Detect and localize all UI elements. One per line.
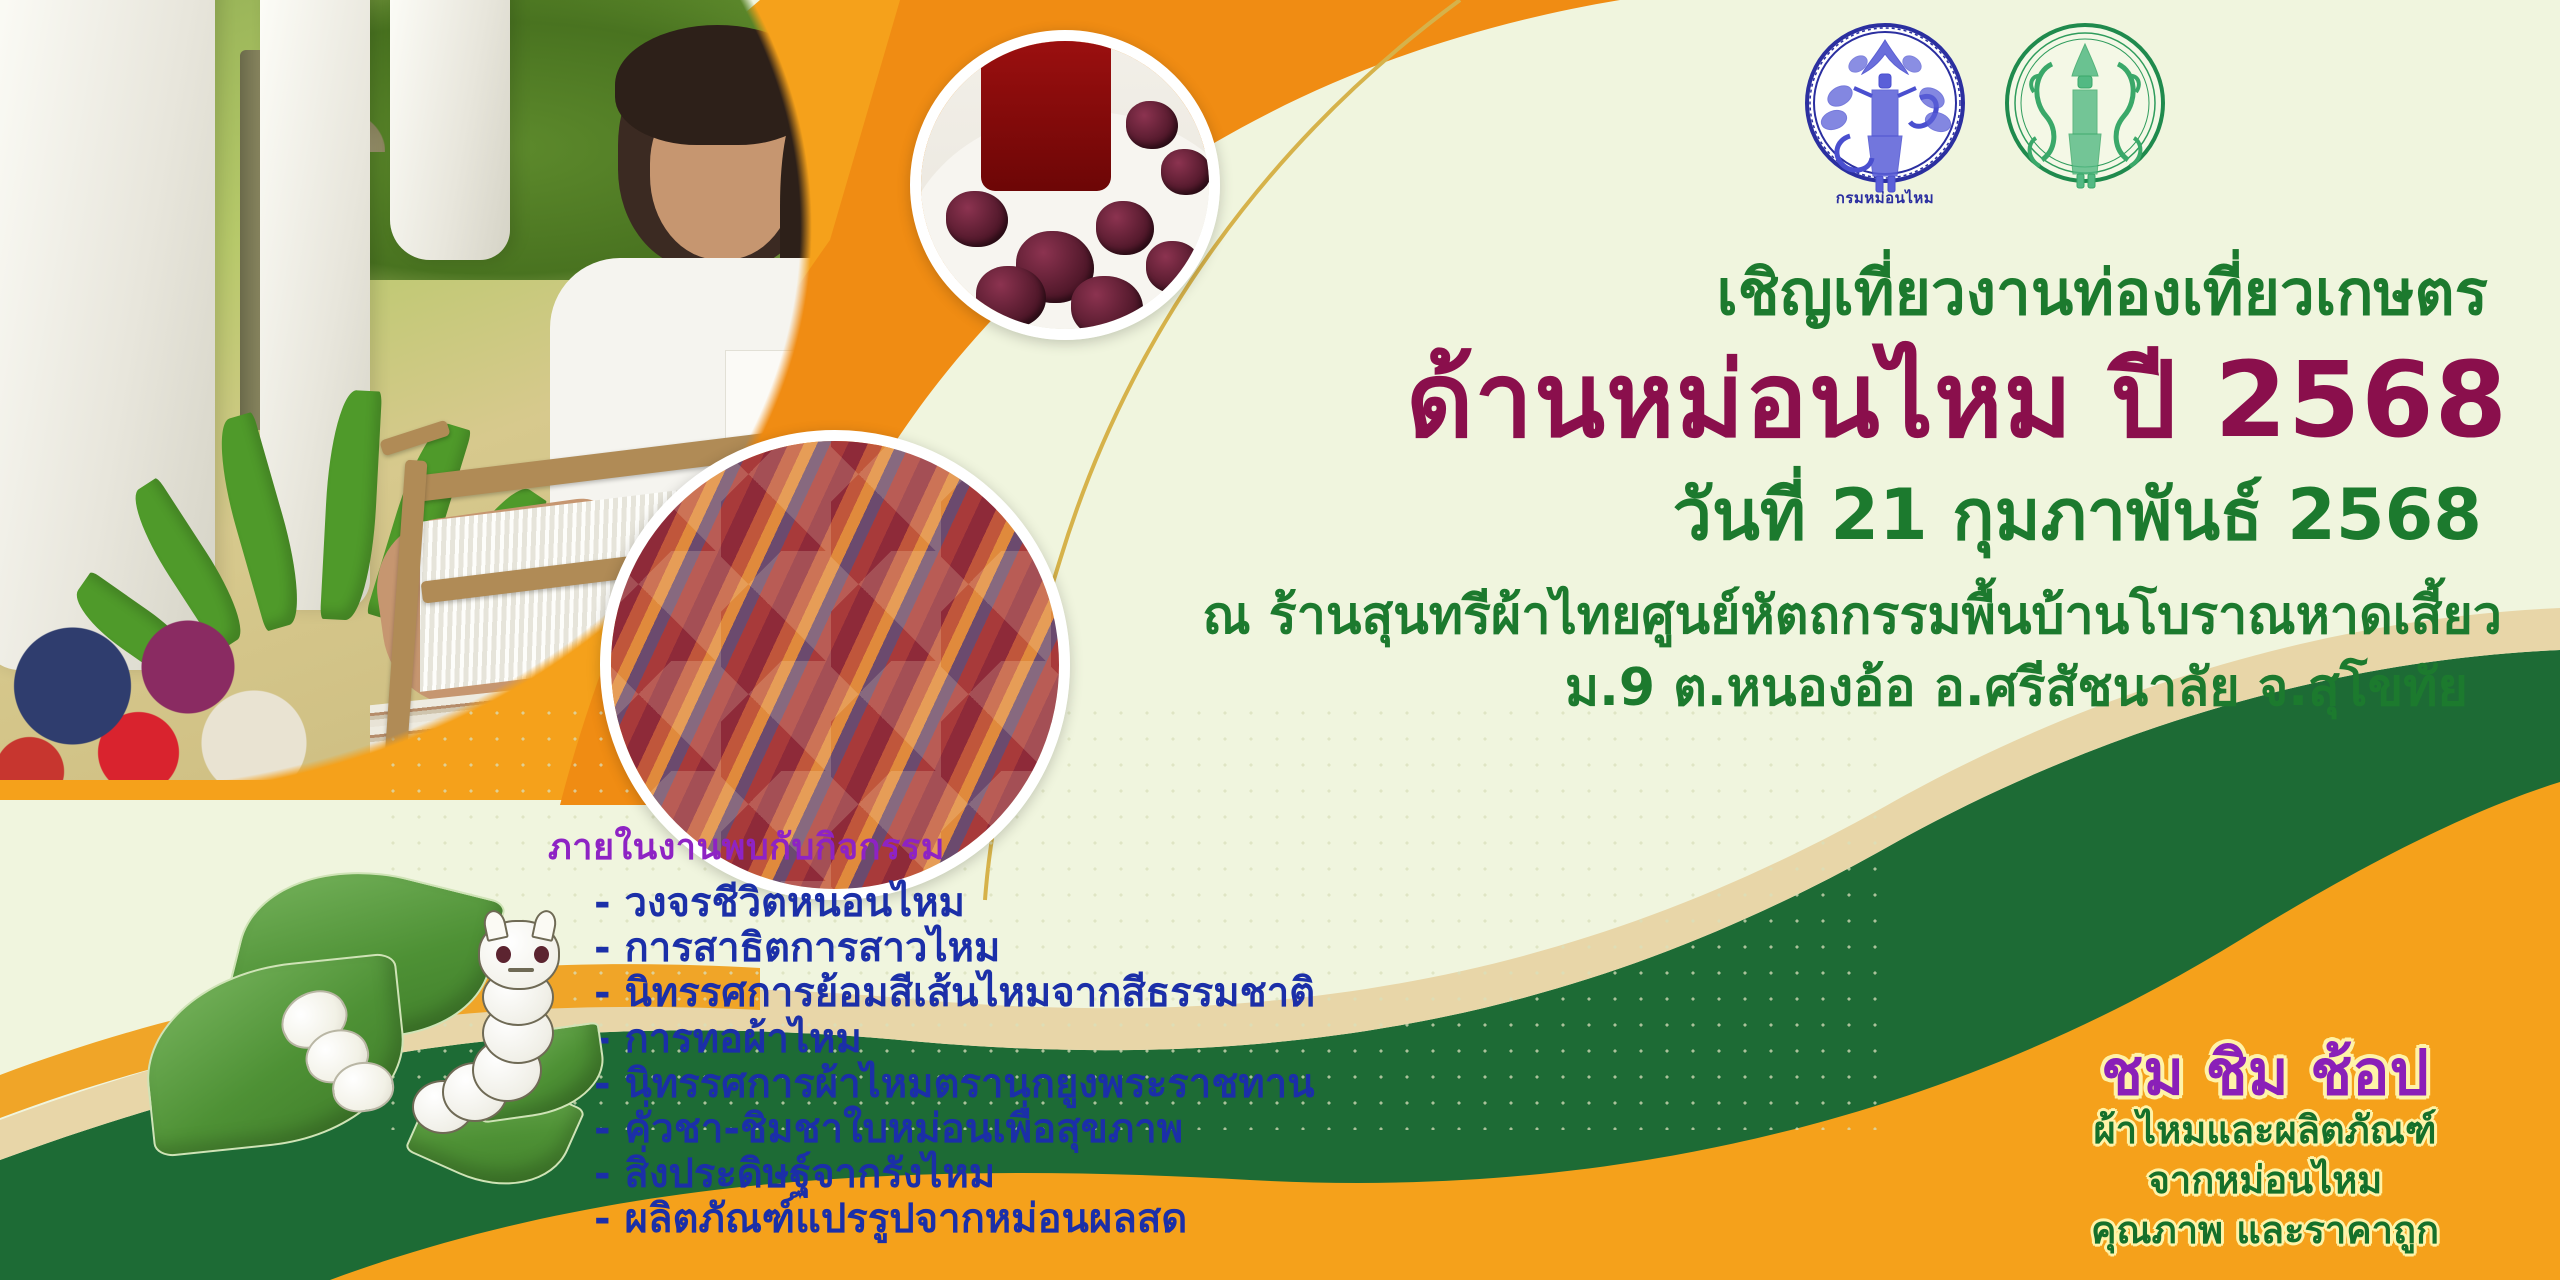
mulberry-leaf-front — [136, 952, 413, 1158]
list-item: - สิ่งประดิษฐ์จากรังไหม — [548, 1152, 1315, 1197]
department-of-sericulture-emblem: กรมหม่อนไหม — [1800, 18, 1970, 208]
list-item: - การสาธิตการสาวไหม — [548, 926, 1315, 971]
list-item: - คั่วชา-ชิมชาใบหม่อนเพื่อสุขภาพ — [548, 1107, 1315, 1152]
silkworm-eye-left — [496, 946, 511, 963]
event-date: วันที่ 21 กุมภาพันธ์ 2568 — [1673, 480, 2482, 550]
activities-block: ภายในงานพบกับกิจกรรม - วงจรชีวิตหนอนไหม … — [548, 818, 1315, 1243]
promo-line-1: ผ้าไหมและผลิตภัณฑ์ — [2005, 1105, 2525, 1155]
promo-title: ชม ชิม ช้อป — [2005, 1040, 2525, 1105]
list-item: - นิทรรศการย้อมสีเส้นไหมจากสีธรรมชาติ — [548, 971, 1315, 1016]
photo-collage — [0, 0, 1090, 800]
promo-block: ชม ชิม ช้อป ผ้าไหมและผลิตภัณฑ์ จากหม่อนไ… — [2005, 1040, 2525, 1256]
invite-line: เชิญเที่ยวงานท่องเที่ยวเกษตร — [1716, 262, 2488, 324]
venue-line-1: ณ ร้านสุนทรีผ้าไทยศูนย์หัตถกรรมพื้นบ้านโ… — [1202, 590, 2502, 642]
silkworm-eye-right — [534, 946, 549, 963]
promo-line-2: จากหม่อนไหม — [2005, 1155, 2525, 1205]
activities-heading: ภายในงานพบกับกิจกรรม — [548, 818, 1315, 875]
activities-list: - วงจรชีวิตหนอนไหม - การสาธิตการสาวไหม -… — [548, 881, 1315, 1243]
silkworm-mouth — [508, 968, 534, 972]
provincial-green-emblem — [2000, 18, 2170, 208]
list-item: - นิทรรศการผ้าไหมตรานกยูงพระราชทาน — [548, 1062, 1315, 1107]
list-item: - ผลิตภัณฑ์แปรรูปจากหม่อนผลสด — [548, 1197, 1315, 1242]
poster-title: ด้านหม่อนไหม ปี 2568 — [1406, 348, 2508, 452]
poster-canvas: กรมหม่อนไหม เชิญเที่ยวงานท — [0, 0, 2560, 1280]
venue-line-2: ม.9 ต.หนองอ้อ อ.ศรีสัชนาลัย จ.สุโขทัย — [1565, 662, 2468, 714]
list-item: - วงจรชีวิตหนอนไหม — [548, 881, 1315, 926]
mulberry-tea-photo — [910, 30, 1220, 340]
silkworm-antenna-left — [481, 908, 509, 942]
logo-caption: กรมหม่อนไหม — [1800, 186, 1970, 210]
promo-line-3: คุณภาพ และราคาถูก — [2005, 1205, 2525, 1255]
silkworm-on-mulberry-leaf — [120, 880, 620, 1280]
list-item: - การทอผ้าไหม — [548, 1017, 1315, 1062]
